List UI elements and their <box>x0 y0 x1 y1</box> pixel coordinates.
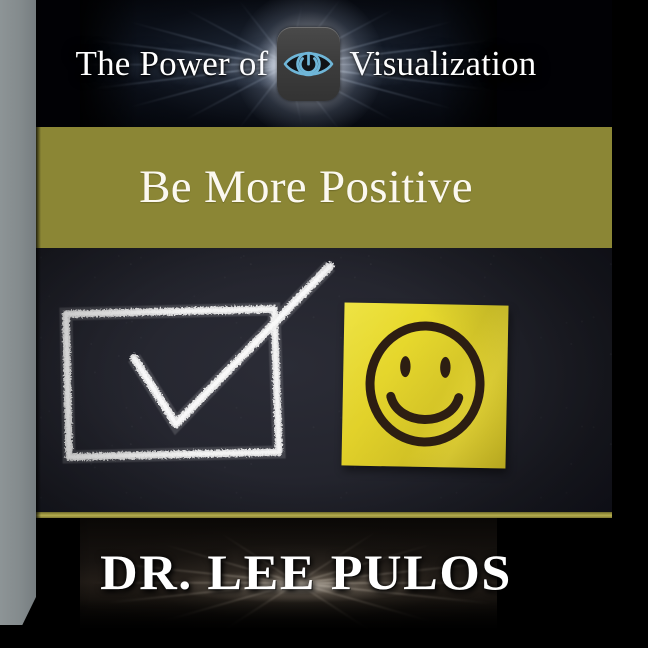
header-text-after: Visualization <box>340 46 536 81</box>
author-name-row: DR. LEE PULOS <box>0 518 612 626</box>
audiobook-cover: The Power of Visualizatio <box>0 0 648 648</box>
brand-logo <box>277 27 340 101</box>
author-band: DR. LEE PULOS <box>0 518 612 648</box>
smiley-face-sticky-note-icon <box>341 302 508 468</box>
checkbox-checkmark-chalk-icon <box>0 248 612 512</box>
eye-power-icon <box>277 27 340 101</box>
author-name: DR. LEE PULOS <box>100 547 512 597</box>
smiley-face-icon <box>341 302 508 468</box>
book-title: Be More Positive <box>139 164 473 211</box>
cover-artwork <box>0 248 612 512</box>
header-text-before: The Power of <box>75 46 277 81</box>
header-band: The Power of Visualizatio <box>0 0 612 127</box>
header-title-row: The Power of Visualizatio <box>0 0 612 127</box>
title-band: Be More Positive <box>0 127 612 248</box>
book-spine <box>0 0 36 648</box>
